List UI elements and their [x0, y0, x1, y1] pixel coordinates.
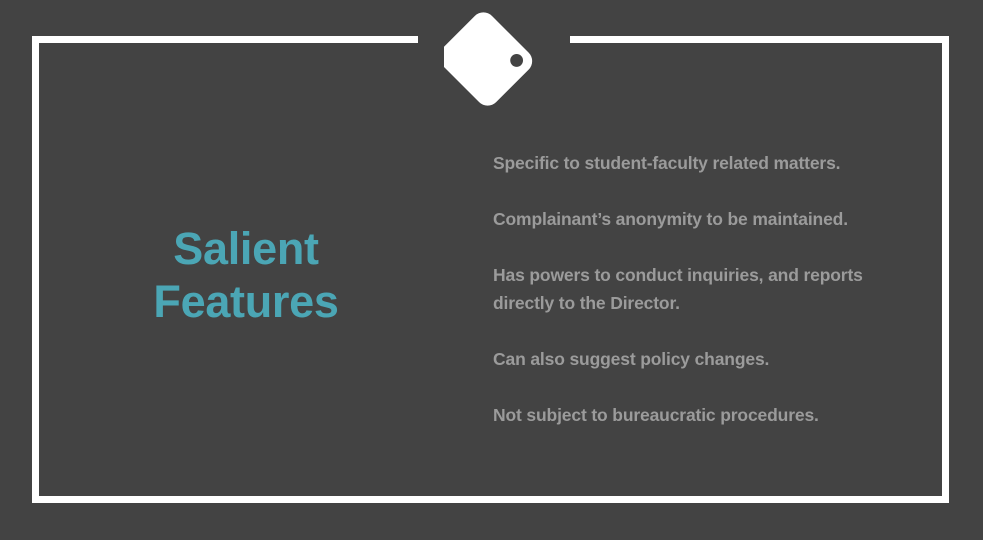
frame-border-left	[32, 36, 39, 503]
page-title-line-2: Features	[60, 275, 432, 328]
page-title-line-1: Salient	[60, 222, 432, 275]
list-item: Specific to student-faculty related matt…	[493, 149, 925, 177]
tag-icon	[444, 8, 544, 110]
frame-border-bottom	[32, 496, 949, 503]
list-item: Has powers to conduct inquiries, and rep…	[493, 261, 925, 317]
frame-border-right	[942, 36, 949, 503]
frame-border-top-right	[570, 36, 949, 43]
page-title: Salient Features	[60, 222, 432, 328]
list-item: Not subject to bureaucratic procedures.	[493, 401, 925, 429]
list-item: Can also suggest policy changes.	[493, 345, 925, 373]
list-item: Complainant’s anonymity to be maintained…	[493, 205, 925, 233]
slide-canvas: Salient Features Specific to student-fac…	[0, 0, 983, 540]
frame-border-top-left	[32, 36, 418, 43]
salient-features-list: Specific to student-faculty related matt…	[493, 131, 925, 429]
